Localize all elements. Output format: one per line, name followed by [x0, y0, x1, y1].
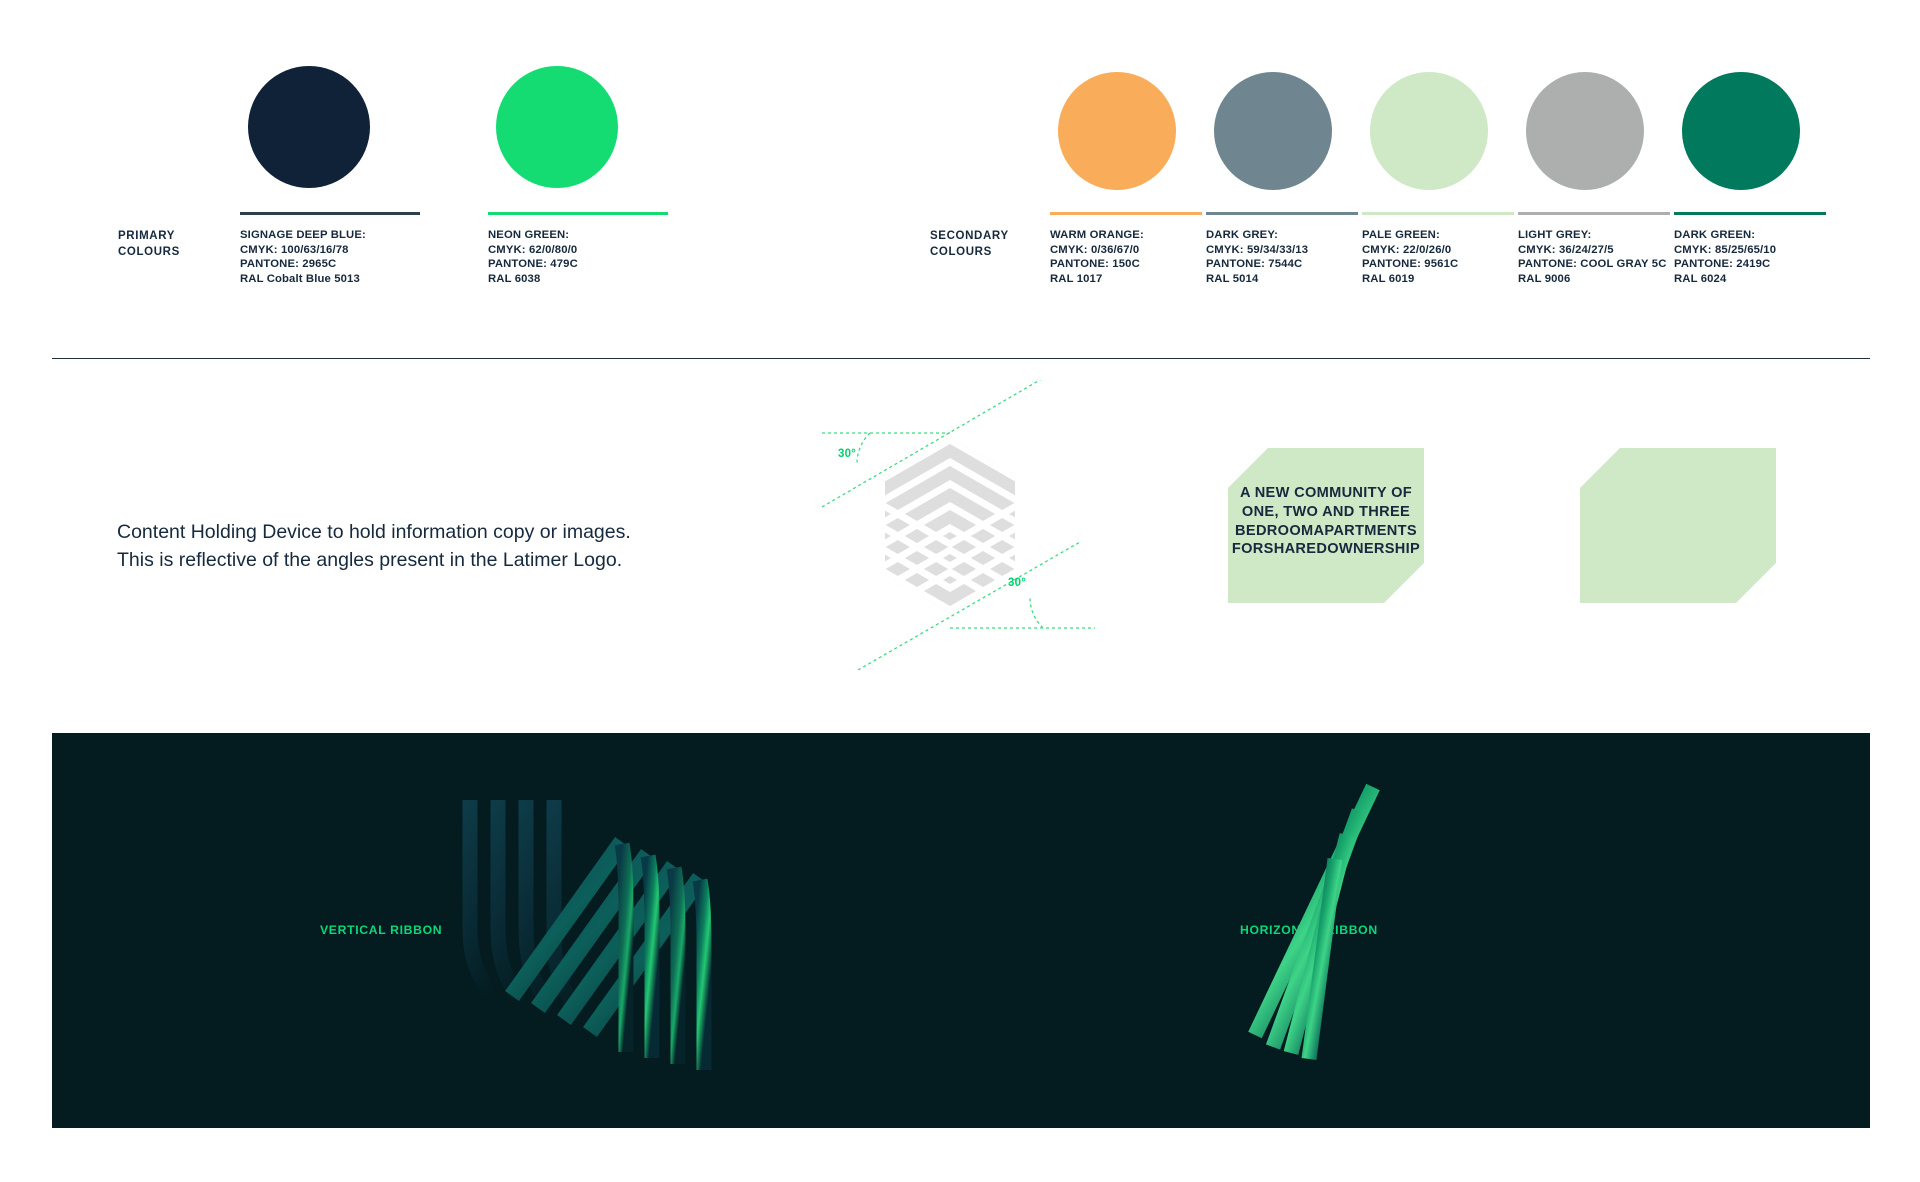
swatch-ral: RAL 5014: [1206, 272, 1308, 287]
brand-guideline-page: PRIMARY COLOURS SIGNAGE DEEP BLUE: CMYK:…: [0, 0, 1920, 1182]
swatch-circle: [1682, 72, 1800, 190]
angle-label-top: 30°: [838, 448, 856, 460]
vertical-ribbon-label: VERTICAL RIBBON: [320, 923, 442, 937]
swatch-name-rest: WARM ORANGE:: [1050, 228, 1144, 243]
hex-chevron-pattern: [870, 430, 1030, 620]
secondary-colours-group-label: SECONDARY COLOURS: [930, 228, 1009, 261]
swatch-name-rest: DEEP BLUE:: [293, 229, 366, 241]
swatch-pantone: PANTONE: 2419C: [1674, 257, 1776, 272]
content-holder-empty: [1580, 448, 1776, 603]
swatch-cmyk: CMYK: 62/0/80/0: [488, 243, 578, 258]
swatch-rule: [1362, 212, 1514, 215]
content-holder-shape: [1580, 448, 1776, 603]
content-holder-shape: [1228, 448, 1424, 603]
swatch-details: DARK GREY: CMYK: 59/34/33/13 PANTONE: 75…: [1206, 228, 1308, 286]
swatch-circle: [1214, 72, 1332, 190]
swatch-ral: RAL 6024: [1674, 272, 1776, 287]
swatch-pantone: PANTONE: 150C: [1050, 257, 1144, 272]
swatch-pantone: PANTONE: 7544C: [1206, 257, 1308, 272]
swatch-name-rest: PALE GREEN:: [1362, 228, 1458, 243]
primary-colours-group-label: PRIMARY COLOURS: [118, 228, 180, 261]
swatch-cmyk: CMYK: 22/0/26/0: [1362, 243, 1458, 258]
section-divider: [52, 358, 1870, 359]
hex-angle-diagram: 30° 30°: [800, 380, 1100, 670]
horizontal-ribbon-graphic: [1197, 753, 1517, 1108]
swatch-rule: [488, 212, 668, 215]
swatch-pantone: PANTONE: 9561C: [1362, 257, 1458, 272]
swatch-details: WARM ORANGE: CMYK: 0/36/67/0 PANTONE: 15…: [1050, 228, 1144, 286]
swatch-details: LIGHT GREY: CMYK: 36/24/27/5 PANTONE: CO…: [1518, 228, 1666, 286]
swatch-ral: RAL 6019: [1362, 272, 1458, 287]
swatch-name-rest: NEON GREEN:: [488, 228, 578, 243]
swatch-cmyk: CMYK: 85/25/65/10: [1674, 243, 1776, 258]
swatch-circle: [496, 66, 618, 188]
swatch-circle: [1526, 72, 1644, 190]
swatch-pantone: PANTONE: 479C: [488, 257, 578, 272]
hex-diagram-svg: [800, 380, 1100, 670]
swatch-rule: [240, 212, 420, 215]
swatch-name-rest: DARK GREEN:: [1674, 228, 1776, 243]
swatch-rule: [1050, 212, 1202, 215]
swatch-circle: [1058, 72, 1176, 190]
swatch-details: PALE GREEN: CMYK: 22/0/26/0 PANTONE: 956…: [1362, 228, 1458, 286]
swatch-cmyk: CMYK: 36/24/27/5: [1518, 243, 1666, 258]
swatch-pantone: PANTONE: COOL GRAY 5C: [1518, 257, 1666, 272]
ribbon-panel: VERTICAL RIBBON: [52, 733, 1870, 1128]
swatch-name-strong: SIGNAGE: [240, 229, 293, 241]
swatch-circle: [1370, 72, 1488, 190]
vertical-ribbon-graphic: [452, 758, 752, 1103]
content-holding-device-section: Content Holding Device to hold informati…: [0, 370, 1920, 730]
angle-label-bottom: 30°: [1008, 577, 1026, 589]
swatch-cmyk: CMYK: 100/63/16/78: [240, 243, 366, 258]
swatch-ral: RAL Cobalt Blue 5013: [240, 272, 366, 287]
swatch-rule: [1518, 212, 1670, 215]
colour-palette-section: PRIMARY COLOURS SIGNAGE DEEP BLUE: CMYK:…: [0, 0, 1920, 360]
swatch-cmyk: CMYK: 0/36/67/0: [1050, 243, 1144, 258]
horizontal-ribbon-svg: [1197, 753, 1517, 1103]
swatch-pantone: PANTONE: 2965C: [240, 257, 366, 272]
swatch-rule: [1674, 212, 1826, 215]
swatch-ral: RAL 6038: [488, 272, 578, 287]
swatch-details: SIGNAGE DEEP BLUE: CMYK: 100/63/16/78 PA…: [240, 228, 366, 286]
swatch-name-rest: DARK GREY:: [1206, 228, 1308, 243]
swatch-name-rest: LIGHT GREY:: [1518, 228, 1666, 243]
swatch-details: DARK GREEN: CMYK: 85/25/65/10 PANTONE: 2…: [1674, 228, 1776, 286]
swatch-cmyk: CMYK: 59/34/33/13: [1206, 243, 1308, 258]
device-description-copy: Content Holding Device to hold informati…: [117, 518, 631, 574]
content-holder-with-text: A NEW COMMUNITY OF ONE, TWO AND THREE BE…: [1228, 448, 1424, 603]
swatch-details: NEON GREEN: CMYK: 62/0/80/0 PANTONE: 479…: [488, 228, 578, 286]
swatch-ral: RAL 1017: [1050, 272, 1144, 287]
swatch-rule: [1206, 212, 1358, 215]
vertical-ribbon-svg: [452, 758, 752, 1098]
swatch-circle: [248, 66, 370, 188]
swatch-ral: RAL 9006: [1518, 272, 1666, 287]
